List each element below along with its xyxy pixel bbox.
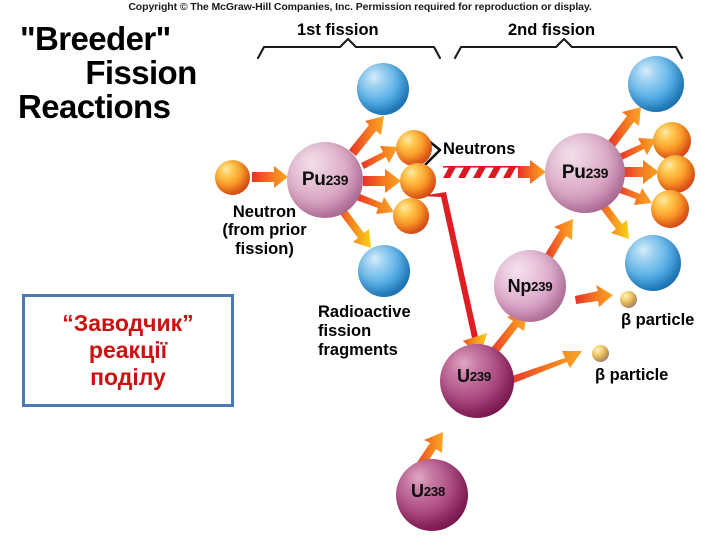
incoming-neutron-sphere xyxy=(215,160,250,195)
nuclide-pu239-first-mass: 239 xyxy=(326,172,349,188)
np239-to-beta-arrow xyxy=(575,285,613,307)
nuclide-u238-mass: 238 xyxy=(424,484,445,499)
callout-line-2: реакції xyxy=(89,337,167,364)
page-title-line-1: "Breeder" xyxy=(20,22,266,56)
fission-fragments-label-line-3: fragments xyxy=(318,341,411,360)
beta-particle-label-2: β particle xyxy=(595,366,668,384)
breeder-fission-reactions-figure: Copyright © The McGraw-Hill Companies, I… xyxy=(0,0,720,540)
neutron-transfer-arrow xyxy=(443,160,546,184)
nuclide-pu239-second: Pu239 xyxy=(545,133,625,213)
incoming-neutron-label: Neutron (from prior fission) xyxy=(207,203,322,258)
copyright-notice: Copyright © The McGraw-Hill Companies, I… xyxy=(0,1,720,13)
fission-fragment-4 xyxy=(625,235,681,291)
nuclide-u239-mass: 239 xyxy=(470,369,491,384)
nuclide-u239: U239 xyxy=(440,344,514,418)
callout-line-3: поділу xyxy=(90,364,166,391)
fission-fragment-3 xyxy=(628,56,684,112)
nuclide-np239: Np239 xyxy=(494,250,566,322)
beta-particle-label-1: β particle xyxy=(621,311,694,329)
emitted-neutron-6 xyxy=(651,190,689,228)
page-title-line-3: Reactions xyxy=(18,90,266,124)
beta-particle-sphere-1 xyxy=(620,291,637,308)
incoming-neutron-arrow xyxy=(252,166,288,188)
ukrainian-translation-callout: “Заводчик” реакції поділу xyxy=(22,294,234,407)
emitted-neutron-1 xyxy=(396,130,432,166)
page-title: "Breeder" Fission Reactions xyxy=(16,22,266,124)
page-title-line-2: Fission xyxy=(16,56,266,90)
neutron-capture-arrow xyxy=(421,192,487,356)
nuclide-u238-symbol: U xyxy=(411,481,424,502)
incoming-neutron-label-line-3: fission) xyxy=(207,240,322,258)
fission-fragment-2 xyxy=(358,245,410,297)
incoming-neutron-label-line-1: Neutron xyxy=(207,203,322,221)
nuclide-pu239-second-symbol: Pu xyxy=(562,162,586,184)
nuclide-np239-symbol: Np xyxy=(508,276,531,297)
nuclide-u239-symbol: U xyxy=(457,366,470,387)
incoming-neutron-label-line-2: (from prior xyxy=(207,221,322,239)
callout-line-1: “Заводчик” xyxy=(62,310,193,337)
fission-fragments-label: Radioactive fission fragments xyxy=(318,303,411,359)
second-fission-label: 2nd fission xyxy=(508,21,595,40)
emitted-neutron-5 xyxy=(657,155,695,193)
nuclide-np239-mass: 239 xyxy=(531,279,552,294)
fission-fragments-label-line-1: Radioactive xyxy=(318,303,411,322)
beta-particle-sphere-2 xyxy=(592,345,609,362)
fission-fragment-1 xyxy=(357,63,409,115)
neutrons-label: Neutrons xyxy=(443,140,515,158)
emitted-neutron-3 xyxy=(393,198,429,234)
nuclide-pu239-second-mass: 239 xyxy=(586,165,609,181)
fission-fragments-label-line-2: fission xyxy=(318,322,411,341)
second-fission-brace xyxy=(455,39,682,58)
nuclide-u238: U238 xyxy=(396,459,468,531)
first-fission-brace xyxy=(258,39,440,58)
emitted-neutron-2 xyxy=(400,163,436,199)
first-fission-label: 1st fission xyxy=(297,21,379,40)
nuclide-pu239-first-symbol: Pu xyxy=(302,169,326,191)
u239-to-beta-arrow xyxy=(506,351,582,385)
